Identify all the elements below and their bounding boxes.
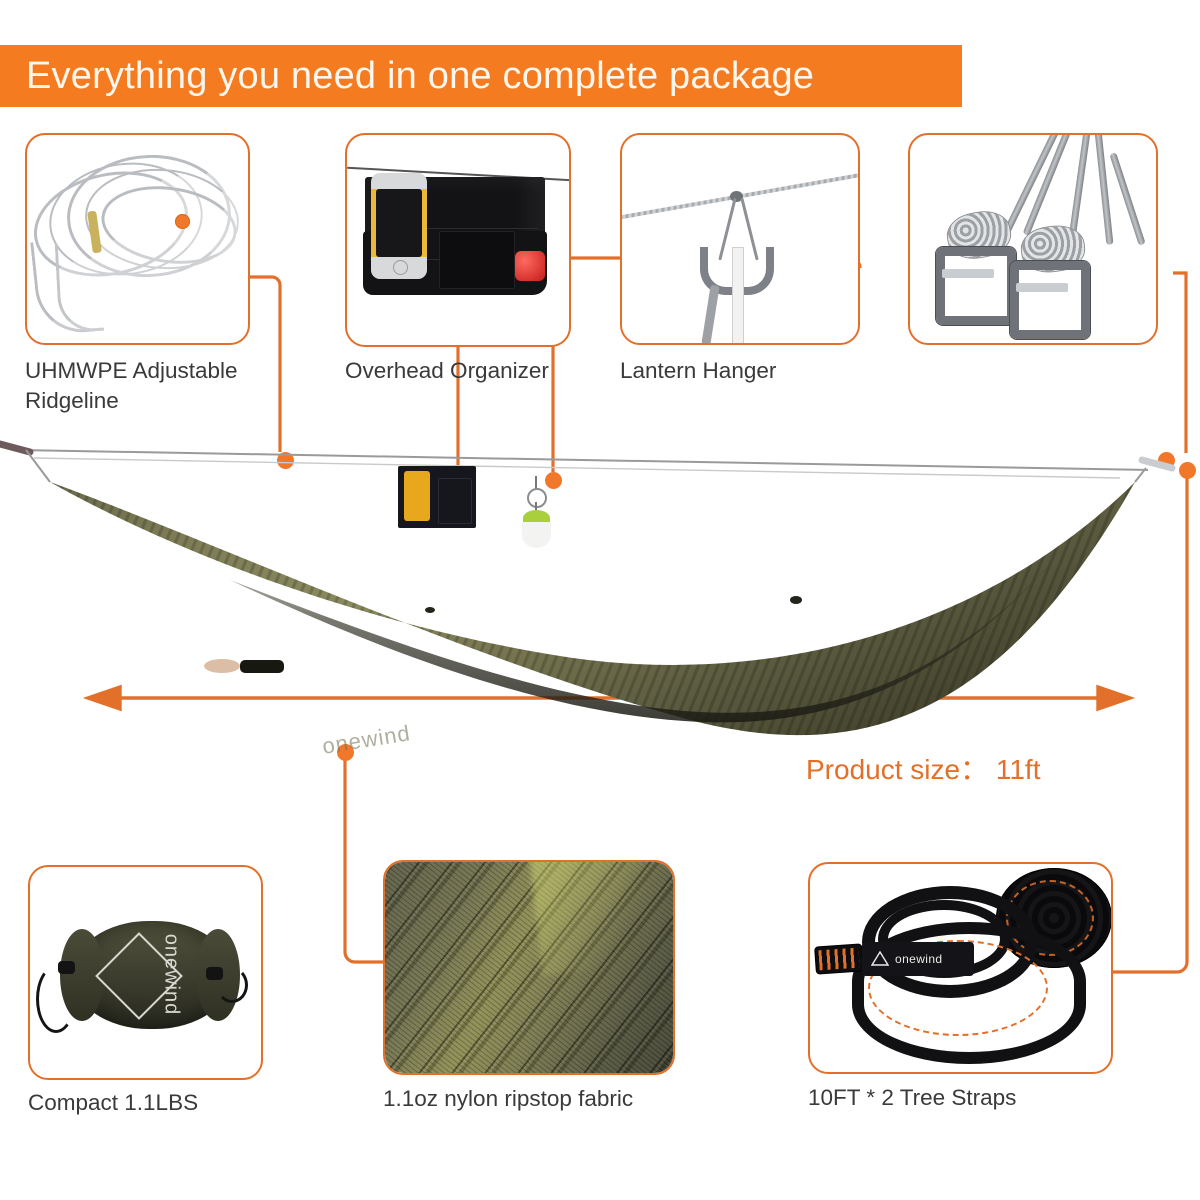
tree-strap-brand-text: onewind <box>895 952 943 966</box>
caption-tree-straps: 10FT * 2 Tree Straps <box>808 1083 1138 1113</box>
stuff-sack-brand: onewind <box>159 934 182 1016</box>
whoopie-sling-buckles-photo <box>910 135 1156 343</box>
banner-title: Everything you need in one complete pack… <box>0 55 814 98</box>
card-overhead-organizer[interactable] <box>345 133 571 347</box>
lantern-on-line <box>516 476 556 548</box>
onewind-logo-icon <box>871 951 889 967</box>
ripstop-fabric-photo <box>385 862 673 1073</box>
card-ripstop-fabric[interactable] <box>383 860 675 1075</box>
card-lantern-hanger[interactable] <box>620 133 860 345</box>
caption-compact-stuff-sack: Compact 1.1LBS <box>28 1088 278 1118</box>
overhead-organizer-photo <box>347 135 569 345</box>
organizer-on-line <box>398 466 476 528</box>
caption-ripstop-fabric: 1.1oz nylon ripstop fabric <box>383 1084 713 1114</box>
uhmwpe-ridgeline-photo <box>27 135 248 343</box>
card-whoopie-sling-buckles[interactable] <box>908 133 1158 345</box>
card-compact-stuff-sack[interactable]: onewind <box>28 865 263 1080</box>
phone-in-organizer <box>371 173 427 279</box>
caption-lantern-hanger: Lantern Hanger <box>620 356 860 386</box>
header-banner: Everything you need in one complete pack… <box>0 45 962 107</box>
tree-strap-brand-tab: onewind <box>862 942 974 976</box>
caption-uhmwpe-ridgeline: UHMWPE Adjustable Ridgeline <box>25 356 275 416</box>
tree-straps-photo: onewind <box>810 864 1111 1072</box>
infographic-root: Everything you need in one complete pack… <box>0 0 1200 1200</box>
compact-stuff-sack-photo: onewind <box>30 867 261 1078</box>
red-bottle-cap <box>515 251 545 281</box>
card-tree-straps[interactable]: onewind <box>808 862 1113 1074</box>
product-size-label: Product size： 11ft <box>806 748 1040 788</box>
lantern-hanger-photo <box>622 135 858 343</box>
card-uhmwpe-ridgeline[interactable] <box>25 133 250 345</box>
caption-overhead-organizer: Overhead Organizer <box>345 356 585 386</box>
